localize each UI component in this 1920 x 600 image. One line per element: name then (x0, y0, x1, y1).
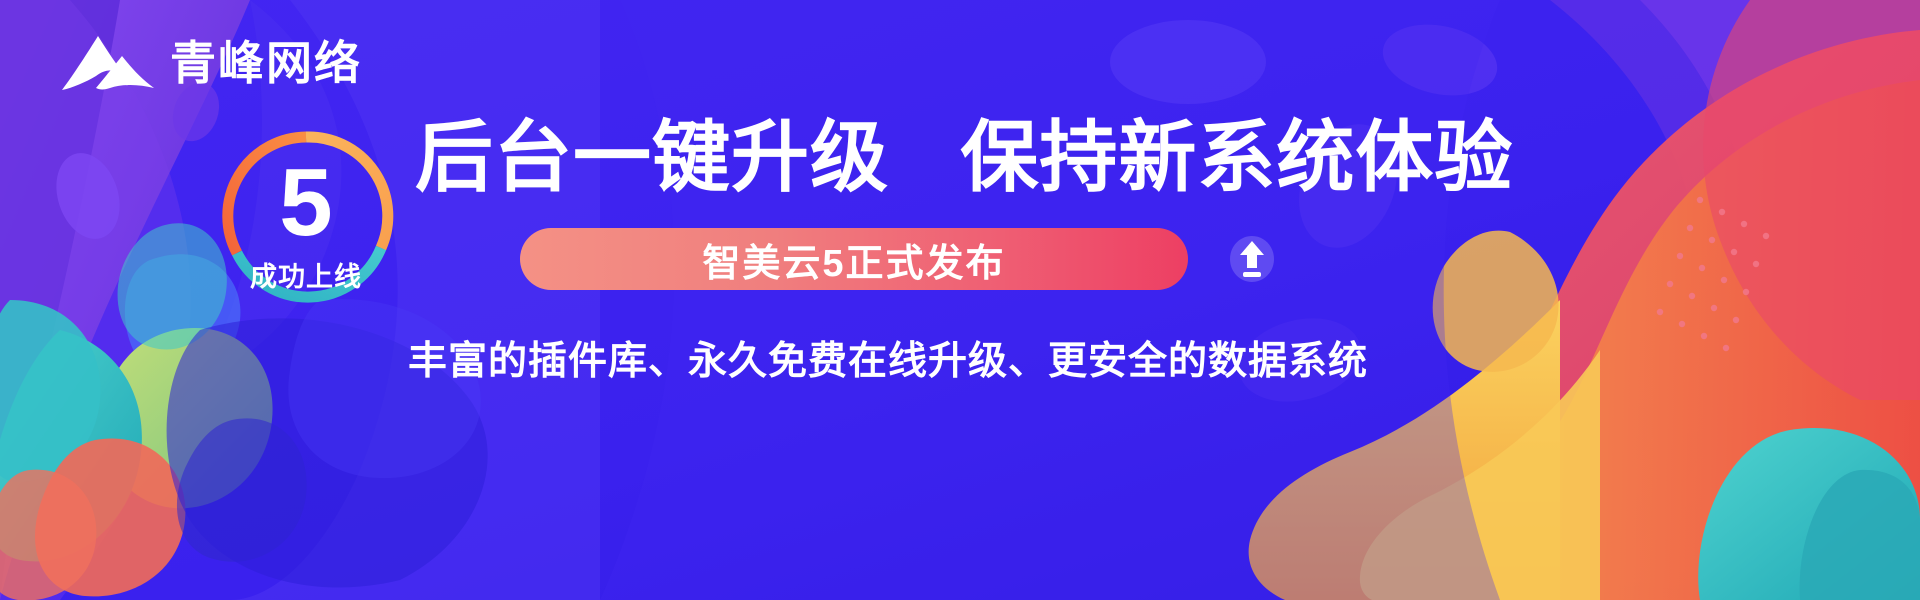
upload-arrow-icon[interactable] (1226, 233, 1278, 285)
launch-badge: 5 成功上线 (218, 128, 394, 304)
brand-logo[interactable]: 青峰网络 (60, 30, 362, 96)
feature-tagline: 丰富的插件库、永久免费在线升级、更安全的数据系统 (408, 330, 1368, 386)
brand-wordmark: 青峰网络 (170, 40, 362, 86)
badge-caption: 成功上线 (218, 255, 394, 294)
release-row: 智美云5正式发布 (520, 228, 1278, 290)
mountain-icon (60, 30, 156, 96)
headline-part-1: 后台一键升级 (415, 113, 889, 201)
promo-banner: 青峰网络 5 成功上线 后台一键升级 保持新系统体验 智美云5正式发布 (0, 0, 1920, 600)
headline-part-2: 保持新系统体验 (960, 113, 1513, 201)
release-pill-button[interactable]: 智美云5正式发布 (520, 228, 1188, 290)
page-title: 后台一键升级 保持新系统体验 (415, 114, 1513, 201)
